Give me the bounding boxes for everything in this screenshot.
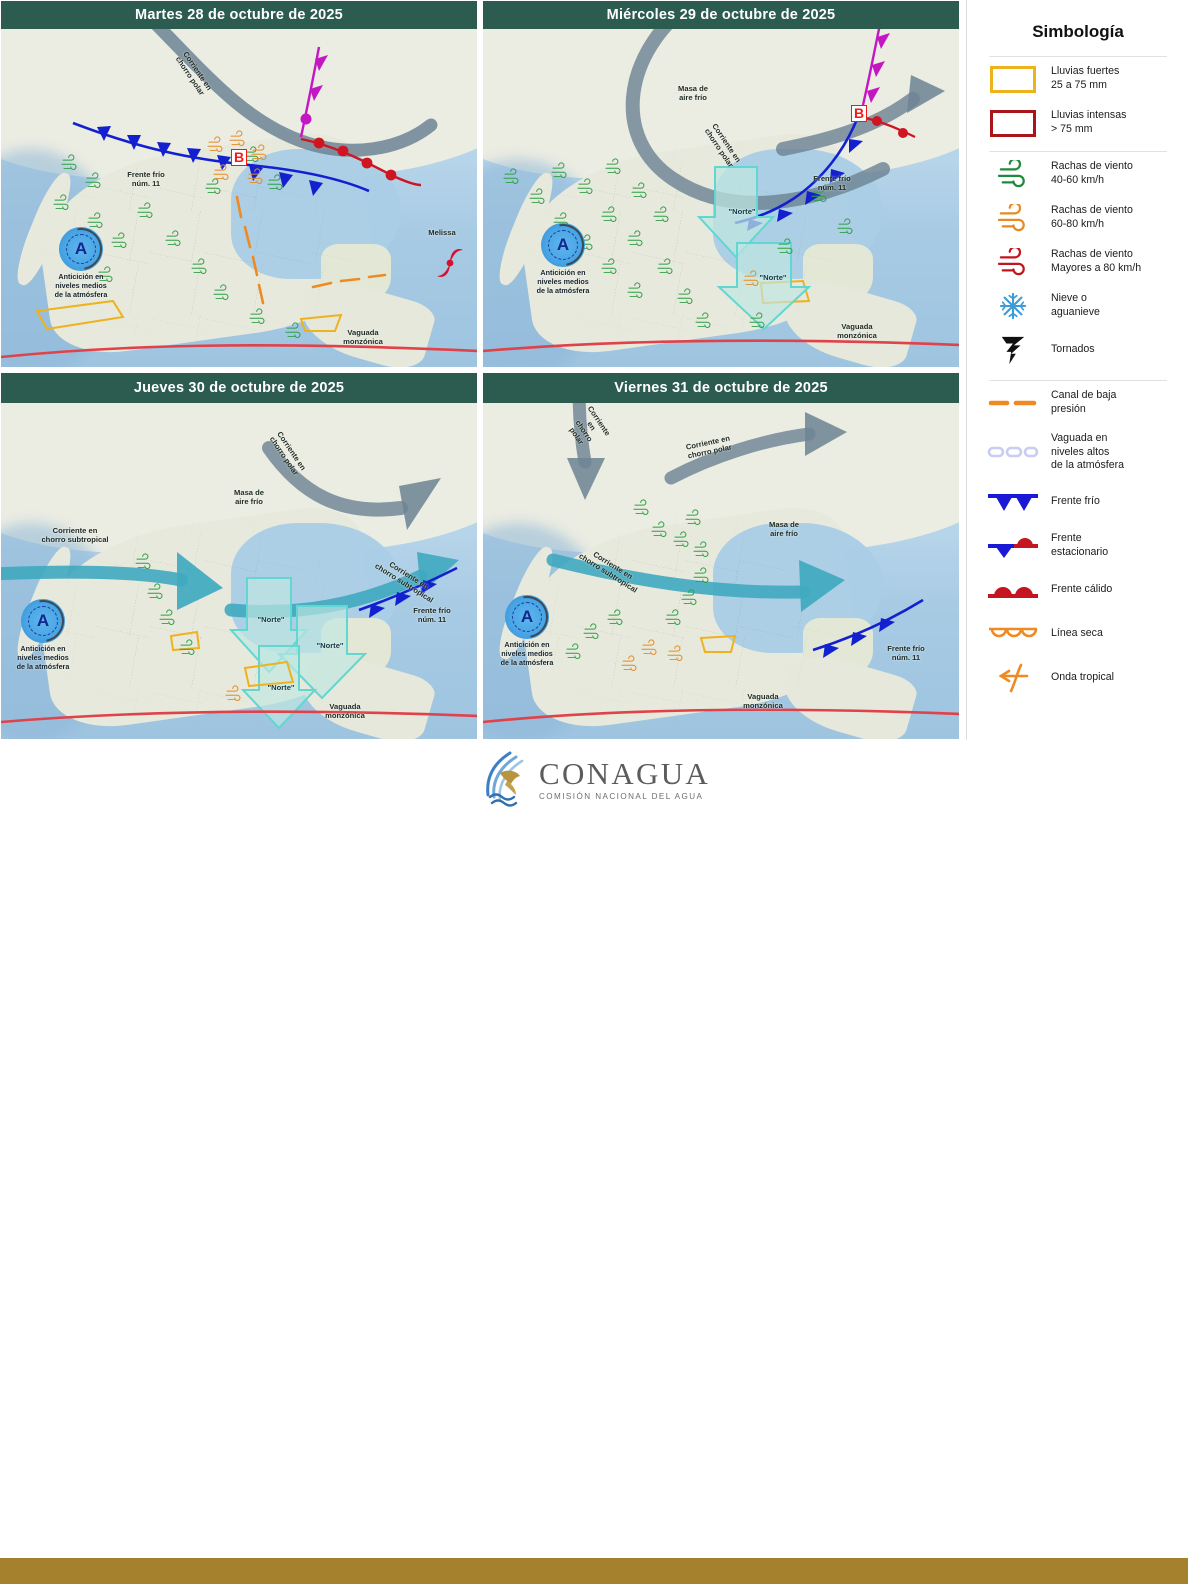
footer: CONAGUA COMISIÓN NACIONAL DEL AGUA [0, 740, 1188, 844]
jet-subtropical-arrowhead [177, 552, 223, 610]
conagua-name: CONAGUA [539, 758, 710, 789]
anticyclone-icon [505, 595, 549, 639]
legend-label: Frente frío [1051, 495, 1100, 509]
panel-friday-title: Viernes 31 de octubre de 2025 [483, 373, 959, 403]
jet-stream-arrowhead [399, 478, 441, 530]
cold-air-mass-label: Masa de aire frío [663, 85, 723, 103]
jet-stream-arrow-tail [783, 99, 913, 149]
panel-tuesday: Martes 28 de octubre de 2025 [0, 0, 478, 368]
wind-gust-orange-icon [985, 203, 1041, 233]
tornado-icon [985, 335, 1041, 365]
norte-label: "Norte" [733, 273, 813, 282]
anticyclone-marker: Anticición en niveles medios de la atmós… [43, 227, 119, 299]
conagua-wordmark: CONAGUA COMISIÓN NACIONAL DEL AGUA [539, 758, 710, 801]
anticyclone-label: Anticición en niveles medios de la atmós… [5, 645, 81, 671]
cold-front-label: Frente frío núm. 11 [875, 645, 937, 663]
norte-label: "Norte" [301, 641, 359, 650]
rain-box-red-icon [985, 108, 1041, 138]
snowflake-icon [985, 291, 1041, 321]
legend-title: Simbología [967, 0, 1188, 56]
occluded-front-symbols [301, 55, 329, 125]
tropical-wave-icon [985, 663, 1041, 693]
norte-arrow [719, 243, 809, 329]
wind-gust-symbols-orange [622, 640, 682, 671]
anticyclone-label: Anticición en niveles medios de la atmós… [489, 641, 565, 667]
wind-gust-red-icon [985, 247, 1041, 277]
forecast-map-grid: Martes 28 de octubre de 2025 [0, 0, 962, 740]
legend-item-dry-line: Línea seca [967, 612, 1188, 656]
conagua-emblem-icon [480, 751, 530, 807]
anticyclone-icon [21, 599, 65, 643]
panel-wednesday: Miércoles 29 de octubre de 2025 [482, 0, 960, 368]
jet-subtropical-arrowhead [799, 560, 845, 612]
monsoon-trough-line [483, 710, 959, 722]
anticyclone-marker: Anticición en niveles medios de la atmós… [5, 599, 81, 671]
legend-panel: Simbología Lluvias fuertes 25 a 75 mm Ll… [966, 0, 1188, 740]
jet-stream-subtropical-west [1, 572, 181, 580]
panel-thursday-map: Corriente en chorro polar Masa de aire f… [1, 403, 477, 739]
heavy-rain-area [37, 301, 123, 329]
panel-tuesday-map: Corriente en chorro polar Frente frío nú… [1, 29, 477, 367]
monsoon-trough-label: Vaguada monzónica [331, 329, 395, 347]
monsoon-trough-label: Vaguada monzónica [313, 703, 377, 721]
jet-stream-arrowhead [567, 458, 605, 500]
jet-subtropical-west-label: Corriente en chorro subtropical [29, 527, 121, 545]
upper-level-trough-icon [985, 437, 1041, 467]
anticyclone-marker: Anticición en niveles medios de la atmós… [489, 595, 565, 667]
gold-bottom-bar [0, 1558, 1188, 1584]
legend-label: Línea seca [1051, 627, 1103, 641]
panel-thursday-title: Jueves 30 de octubre de 2025 [1, 373, 477, 403]
legend-item-upper-trough: Vaguada en niveles altos de la atmósfera [967, 425, 1188, 480]
anticyclone-label: Anticición en niveles medios de la atmós… [525, 269, 601, 295]
legend-label: Vaguada en niveles altos de la atmósfera [1051, 432, 1124, 473]
cold-air-mass-label: Masa de aire frío [219, 489, 279, 507]
warm-front-icon [985, 575, 1041, 605]
anticyclone-icon [541, 223, 585, 267]
low-pressure-symbol: B [231, 149, 247, 166]
legend-label: Frente cálido [1051, 583, 1112, 597]
monsoon-trough-line [1, 345, 477, 357]
hurricane-label: Melissa [415, 229, 469, 238]
anticyclone-icon [59, 227, 103, 271]
jet-stream-arrowhead [805, 412, 847, 456]
hurricane-melissa [433, 245, 467, 286]
legend-item-wind-over-80: Rachas de viento Mayores a 80 km/h [967, 240, 1188, 284]
legend-item-snow: Nieve o aguanieve [967, 284, 1188, 328]
legend-item-low-pressure-channel: Canal de baja presión [967, 381, 1188, 425]
legend-item-intense-rain: Lluvias intensas > 75 mm [967, 101, 1188, 145]
panel-tuesday-overlay [1, 29, 477, 367]
anticyclone-label: Anticición en niveles medios de la atmós… [43, 273, 119, 299]
legend-item-wind-40-60: Rachas de viento 40-60 km/h [967, 152, 1188, 196]
panel-wednesday-title: Miércoles 29 de octubre de 2025 [483, 1, 959, 29]
legend-label: Rachas de viento 40-60 km/h [1051, 160, 1133, 187]
legend-label: Rachas de viento Mayores a 80 km/h [1051, 248, 1141, 275]
low-pressure-channel [237, 197, 385, 303]
dry-line-icon [985, 619, 1041, 649]
monsoon-trough-line [1, 712, 477, 722]
low-pressure-channel-icon [985, 388, 1041, 418]
norte-label: "Norte" [241, 615, 301, 624]
monsoon-trough-label: Vaguada monzónica [825, 323, 889, 341]
panel-tuesday-title: Martes 28 de octubre de 2025 [1, 1, 477, 29]
legend-label: Rachas de viento 60-80 km/h [1051, 204, 1133, 231]
conagua-tagline: COMISIÓN NACIONAL DEL AGUA [539, 792, 710, 801]
anticyclone-marker: Anticición en niveles medios de la atmós… [525, 223, 601, 295]
legend-label: Onda tropical [1051, 671, 1114, 685]
legend-label: Tornados [1051, 343, 1095, 357]
norte-label: "Norte" [711, 207, 773, 216]
cold-front-label: Frente frío núm. 11 [401, 607, 463, 625]
cold-front-label: Frente frío núm. 11 [111, 171, 181, 189]
legend-item-tornado: Tornados [967, 328, 1188, 372]
heavy-rain-area [171, 632, 199, 650]
panel-wednesday-map: Masa de aire frío Corriente en chorro po… [483, 29, 959, 367]
legend-label: Frente estacionario [1051, 532, 1108, 559]
hurricane-icon [433, 245, 467, 281]
legend-item-tropical-wave: Onda tropical [967, 656, 1188, 700]
panel-friday-map: Corriente en chorro polar Corriente en c… [483, 403, 959, 739]
legend-label: Lluvias intensas > 75 mm [1051, 109, 1126, 136]
cold-front-line [813, 600, 923, 650]
legend-item-wind-60-80: Rachas de viento 60-80 km/h [967, 196, 1188, 240]
panel-friday: Viernes 31 de octubre de 2025 [482, 372, 960, 740]
legend-item-cold-front: Frente frío [967, 480, 1188, 524]
heavy-rain-area [701, 636, 735, 652]
conagua-logo: CONAGUA COMISIÓN NACIONAL DEL AGUA [480, 748, 710, 810]
legend-label: Nieve o aguanieve [1051, 292, 1100, 319]
panel-thursday: Jueves 30 de octubre de 2025 [0, 372, 478, 740]
legend-item-heavy-rain: Lluvias fuertes 25 a 75 mm [967, 57, 1188, 101]
cold-air-mass-label: Masa de aire frío [755, 521, 813, 539]
wind-gust-symbols-orange [226, 686, 240, 701]
monsoon-trough-line [483, 341, 959, 351]
norte-label: "Norte" [253, 683, 309, 692]
monsoon-trough-label: Vaguada monzónica [731, 693, 795, 711]
legend-label: Canal de baja presión [1051, 389, 1116, 416]
stationary-front-icon [985, 531, 1041, 561]
jet-stream-arrowhead [907, 75, 945, 113]
legend-item-stationary-front: Frente estacionario [967, 524, 1188, 568]
panel-wednesday-overlay [483, 29, 959, 367]
legend-label: Lluvias fuertes 25 a 75 mm [1051, 65, 1119, 92]
rain-box-yellow-icon [985, 64, 1041, 94]
wind-gust-green-icon [985, 159, 1041, 189]
weather-forecast-poster: Martes 28 de octubre de 2025 [0, 0, 1188, 844]
low-pressure-symbol: B [851, 105, 867, 122]
legend-item-warm-front: Frente cálido [967, 568, 1188, 612]
cold-front-icon [985, 487, 1041, 517]
cold-front-label: Frente frío núm. 11 [801, 175, 863, 193]
